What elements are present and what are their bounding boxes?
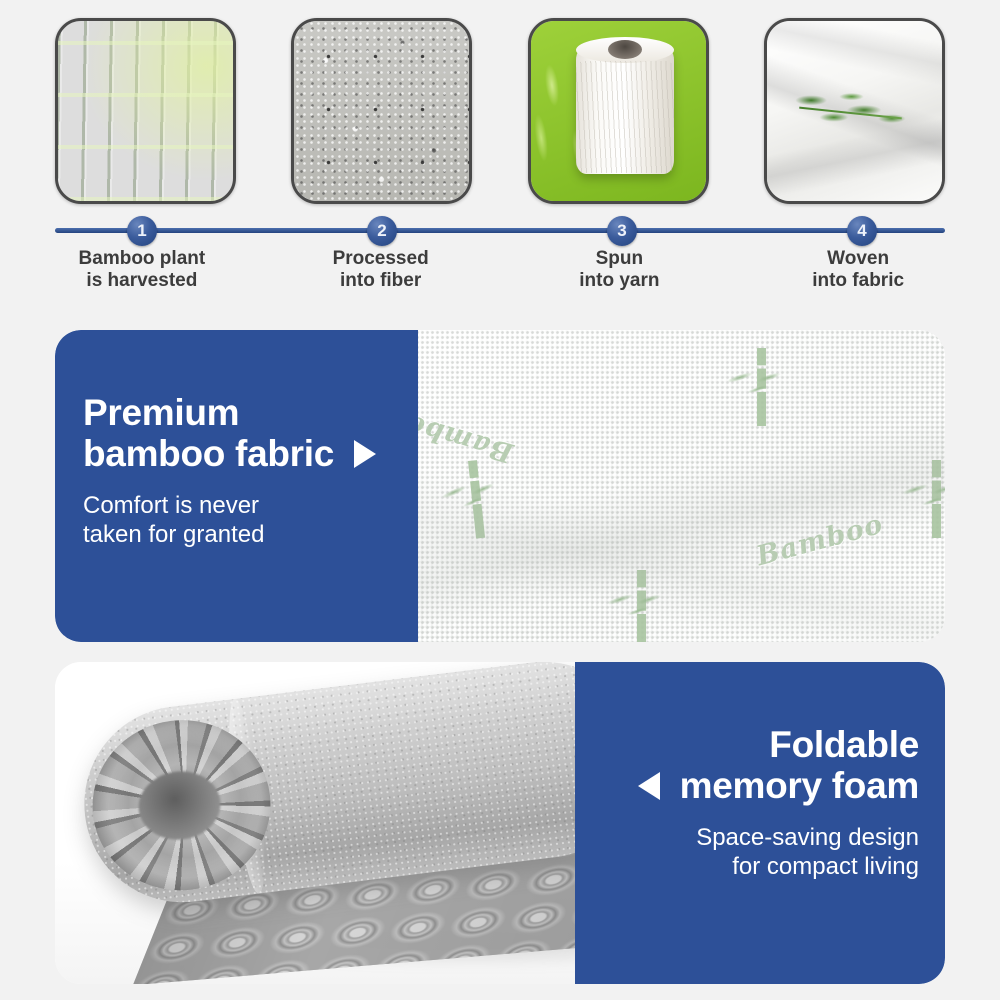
bamboo-process-section: 1 2 3 4 Bamboo plant is harvested Proces…: [0, 0, 1000, 310]
fabric-headline: Premium bamboo fabric: [83, 392, 418, 475]
foam-subtitle-line-2: for compact living: [575, 852, 919, 881]
step-number-badge-1: 1: [127, 216, 157, 246]
process-thumbnail-row: [0, 18, 1000, 203]
step-number-badge-4: 4: [847, 216, 877, 246]
premium-bamboo-fabric-banner: Bamboo Bamboo Premium bamboo fabric Comf…: [55, 330, 945, 642]
caption-1-line-2: is harvested: [55, 270, 229, 292]
fabric-headline-line-2: bamboo fabric: [83, 433, 334, 474]
step-number-badge-2: 2: [367, 216, 397, 246]
process-thumbnail-1: [55, 18, 236, 204]
process-thumbnail-3: [528, 18, 709, 204]
woven-fabric-image: [767, 21, 942, 201]
foam-subtitle: Space-saving design for compact living: [575, 823, 919, 882]
fabric-bamboo-motif-3: [910, 460, 945, 538]
caption-1-line-1: Bamboo plant: [79, 248, 206, 269]
fabric-subtitle: Comfort is never taken for granted: [83, 491, 418, 550]
bamboo-fiber-image: [294, 21, 469, 201]
caption-3-line-2: into yarn: [533, 270, 707, 292]
process-caption-4: Woven into fabric: [771, 248, 945, 292]
fabric-subtitle-line-2: taken for granted: [83, 520, 418, 549]
fabric-text-panel: Premium bamboo fabric Comfort is never t…: [55, 330, 418, 642]
bamboo-grove-image: [58, 21, 233, 201]
step-number-badge-3: 3: [607, 216, 637, 246]
fabric-subtitle-line-1: Comfort is never: [83, 491, 418, 520]
foam-text-panel: Foldable memory foam Space-saving design…: [575, 662, 945, 984]
caption-2-line-2: into fiber: [294, 270, 468, 292]
foam-headline-line-2: memory foam: [680, 765, 919, 806]
process-thumbnail-2: [291, 18, 472, 204]
timeline-bar: [55, 228, 945, 233]
triangle-left-icon: [638, 772, 660, 800]
process-caption-2: Processed into fiber: [294, 248, 468, 292]
caption-2-line-1: Processed: [333, 248, 429, 269]
fabric-print-word-2: Bamboo: [753, 509, 886, 573]
foldable-memory-foam-banner: Foldable memory foam Space-saving design…: [55, 662, 945, 984]
bamboo-sprig-icon: [791, 82, 917, 143]
triangle-right-icon: [354, 440, 376, 468]
process-timeline: 1 2 3 4: [0, 216, 1000, 246]
process-thumbnail-4: [764, 18, 945, 204]
yarn-thread-lines: [576, 61, 674, 173]
process-caption-1: Bamboo plant is harvested: [55, 248, 229, 292]
yarn-spool-image: [531, 21, 706, 201]
fabric-bamboo-motif-1: [735, 348, 795, 426]
foam-headline: Foldable memory foam: [575, 724, 919, 807]
caption-4-line-1: Woven: [827, 248, 889, 269]
caption-3-line-1: Spun: [596, 248, 644, 269]
fabric-headline-line-1: Premium: [83, 392, 418, 433]
foam-headline-line-1: Foldable: [575, 724, 919, 765]
fabric-bamboo-motif-4: [615, 570, 675, 642]
foam-subtitle-line-1: Space-saving design: [575, 823, 919, 852]
caption-4-line-2: into fabric: [771, 270, 945, 292]
fabric-bamboo-motif-2: [446, 457, 514, 541]
process-caption-row: Bamboo plant is harvested Processed into…: [0, 248, 1000, 292]
foam-roll-end-face: [83, 710, 280, 900]
process-caption-3: Spun into yarn: [533, 248, 707, 292]
